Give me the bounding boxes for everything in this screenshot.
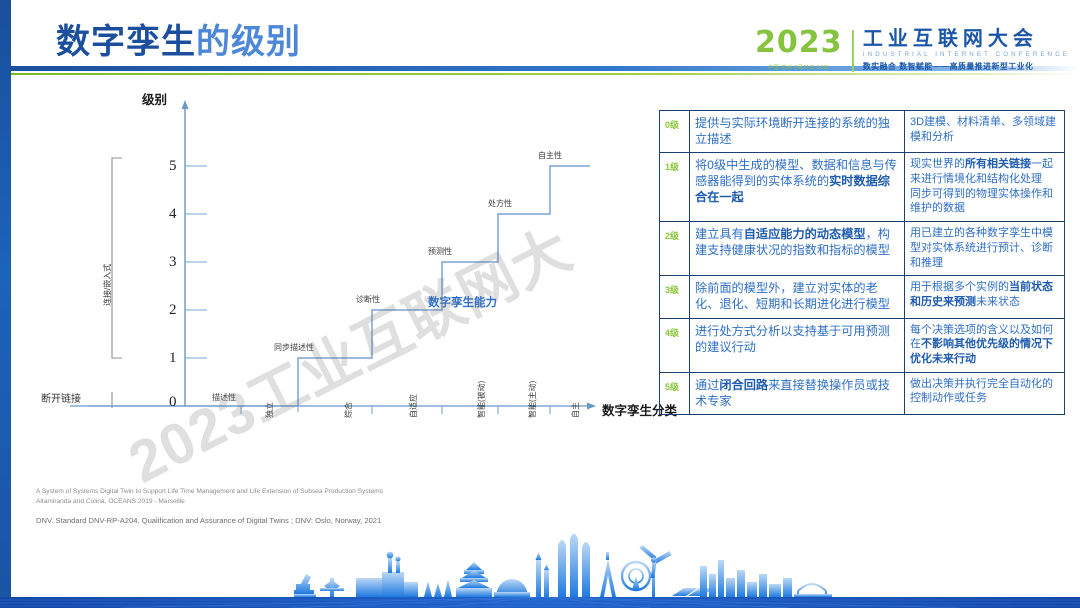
y-tick-5: 5 [169, 158, 177, 175]
y-tick-0: 0 [169, 394, 177, 411]
digital-twin-grade-table: 0级 提供与实际环境断开连接的系统的独立描述 3D建模、材料清单、多领域建模和分… [659, 110, 1065, 415]
usage-text: 现实世界的所有相关链接一起来进行情境化和结构化处理同步可得到的物理实体操作和维护… [910, 157, 1059, 216]
footnote-line-2: Altamiranda and Colina, OCEANS 2019 - Ma… [36, 497, 506, 507]
table-row: 4级 进行处方式分析以支持基于可用预测的建议行动 每个决策选项的含义以及如何在不… [660, 318, 1065, 372]
skyline-shapes [294, 534, 832, 599]
footnote-line-1: A System of Systems Digital Twin to Supp… [36, 487, 506, 497]
grade-cell: 1级 [660, 153, 690, 222]
usage-text: 用于根据多个实例的当前状态和历史来预测未来状态 [910, 280, 1059, 309]
usage-cell: 3D建模、材料清单、多领域建模和分析 [905, 111, 1065, 153]
y-tick-1: 1 [169, 350, 177, 367]
logo-divider [852, 30, 853, 72]
footnote-line-3: DNV. Standard DNV-RP-A204. Qualification… [36, 515, 506, 527]
usage-text: 每个决策选项的含义以及如何在不影响其他优先级的情况下优化未来行动 [910, 323, 1059, 367]
logo-date: 中国·苏州 9月11日-13日 [755, 64, 843, 71]
usage-cell: 现实世界的所有相关链接一起来进行情境化和结构化处理同步可得到的物理实体操作和维护… [905, 153, 1065, 222]
grade-badge: 2级 [665, 231, 679, 241]
usage-cell: 做出决策并执行完全自动化的控制动作或任务 [905, 372, 1065, 414]
grade-cell: 5级 [660, 372, 690, 414]
usage-cell: 用已建立的各种数字孪生中模型对实体系统进行预计、诊断和推理 [905, 222, 1065, 276]
y-tick-3: 3 [169, 254, 177, 271]
footnote-block: A System of Systems Digital Twin to Supp… [36, 487, 506, 527]
grade-badge: 1级 [665, 162, 679, 172]
x-category-5: 自主 [570, 402, 581, 418]
usage-text: 用已建立的各种数字孪生中模型对实体系统进行预计、诊断和推理 [910, 226, 1059, 270]
staircase-chart: 5 4 3 2 1 0 级别 数字孪生分类 连接/嵌入式 断开链接 描述性 同步… [30, 96, 655, 486]
grade-table-body: 0级 提供与实际环境断开连接的系统的独立描述 3D建模、材料清单、多领域建模和分… [660, 111, 1065, 415]
step-label-1: 同步描述性 [274, 342, 314, 353]
grade-cell: 2级 [660, 222, 690, 276]
step-label-2: 诊断性 [356, 294, 380, 305]
grade-cell: 4级 [660, 318, 690, 372]
y-tick-4: 4 [169, 206, 177, 223]
grade-cell: 3级 [660, 276, 690, 318]
step-label-0: 描述性 [212, 392, 236, 403]
description-cell: 建立具有自适应能力的动态模型，构建支持健康状况的指数和指标的模型 [690, 222, 905, 276]
x-category-1: 综合 [343, 402, 354, 418]
chart-annotation-capability: 数字孪生能力 [428, 294, 497, 310]
table-row: 1级 将0级中生成的模型、数据和信息与传感器能得到的实体系统的实时数据综合在一起… [660, 153, 1065, 222]
description-text: 提供与实际环境断开连接的系统的独立描述 [695, 115, 899, 147]
bracket-bottom-label: 断开链接 [41, 390, 81, 405]
step-label-3: 预测性 [428, 246, 452, 257]
footer-skyline-band [0, 530, 1080, 608]
usage-text: 做出决策并执行完全自动化的控制动作或任务 [910, 377, 1059, 406]
grade-badge: 0级 [665, 120, 679, 130]
table-row: 5级 通过闭合回路来直接替换操作员或技术专家 做出决策并执行完全自动化的控制动作… [660, 372, 1065, 414]
slide-canvas: 数字孪生的级别 2023 中国·苏州 9月11日-13日 工业互联网大会 IND… [0, 0, 1080, 608]
logo-year-block: 2023 中国·苏州 9月11日-13日 [755, 28, 853, 71]
description-cell: 进行处方式分析以支持基于可用预测的建议行动 [690, 318, 905, 372]
x-category-4: 智能(主动) [527, 381, 538, 418]
page-title: 数字孪生的级别 [56, 14, 301, 63]
skyline-svg [0, 530, 1080, 608]
table-row: 2级 建立具有自适应能力的动态模型，构建支持健康状况的指数和指标的模型 用已建立… [660, 222, 1065, 276]
x-category-0: 独立 [264, 402, 275, 418]
description-text: 进行处方式分析以支持基于可用预测的建议行动 [695, 323, 899, 355]
logo-name-block: 工业互联网大会 INDUSTRIAL INTERNET CONFERENCE 数… [863, 28, 1070, 72]
logo-year: 2023 [755, 28, 843, 58]
bracket-top-label: 连接/嵌入式 [102, 264, 113, 306]
usage-cell: 用于根据多个实例的当前状态和历史来预测未来状态 [905, 276, 1065, 318]
grade-badge: 3级 [665, 285, 679, 295]
x-category-2: 自适应 [408, 394, 419, 418]
left-accent-bar [0, 0, 11, 608]
usage-text: 3D建模、材料清单、多领域建模和分析 [910, 115, 1059, 144]
description-text: 将0级中生成的模型、数据和信息与传感器能得到的实体系统的实时数据综合在一起 [695, 157, 899, 205]
y-axis-title: 级别 [142, 89, 167, 108]
table-row: 0级 提供与实际环境断开连接的系统的独立描述 3D建模、材料清单、多领域建模和分… [660, 111, 1065, 153]
conference-logo: 2023 中国·苏州 9月11日-13日 工业互联网大会 INDUSTRIAL … [755, 28, 1070, 78]
grade-badge: 4级 [665, 328, 679, 338]
description-cell: 提供与实际环境断开连接的系统的独立描述 [690, 111, 905, 153]
description-text: 建立具有自适应能力的动态模型，构建支持健康状况的指数和指标的模型 [695, 226, 899, 258]
grade-cell: 0级 [660, 111, 690, 153]
description-cell: 将0级中生成的模型、数据和信息与传感器能得到的实体系统的实时数据综合在一起 [690, 153, 905, 222]
step-label-4: 处方性 [488, 198, 512, 209]
y-tick-2: 2 [169, 302, 177, 319]
page-title-secondary: 的级别 [196, 23, 301, 61]
description-text: 除前面的模型外，建立对实体的老化、退化、短期和长期进化进行模型 [695, 280, 899, 312]
x-category-3: 智能(被动) [476, 381, 487, 418]
table-row: 3级 除前面的模型外，建立对实体的老化、退化、短期和长期进化进行模型 用于根据多… [660, 276, 1065, 318]
logo-name-cn: 工业互联网大会 [863, 29, 1070, 50]
description-cell: 通过闭合回路来直接替换操作员或技术专家 [690, 372, 905, 414]
page-title-primary: 数字孪生 [56, 23, 196, 61]
logo-slogan: 数实融合 数智赋能——高质量推进新型工业化 [863, 61, 1070, 72]
grade-badge: 5级 [665, 382, 679, 392]
logo-name-en: INDUSTRIAL INTERNET CONFERENCE [863, 51, 1070, 58]
usage-cell: 每个决策选项的含义以及如何在不影响其他优先级的情况下优化未来行动 [905, 318, 1065, 372]
description-cell: 除前面的模型外，建立对实体的老化、退化、短期和长期进化进行模型 [690, 276, 905, 318]
description-text: 通过闭合回路来直接替换操作员或技术专家 [695, 377, 899, 409]
step-label-5: 自主性 [538, 150, 562, 161]
